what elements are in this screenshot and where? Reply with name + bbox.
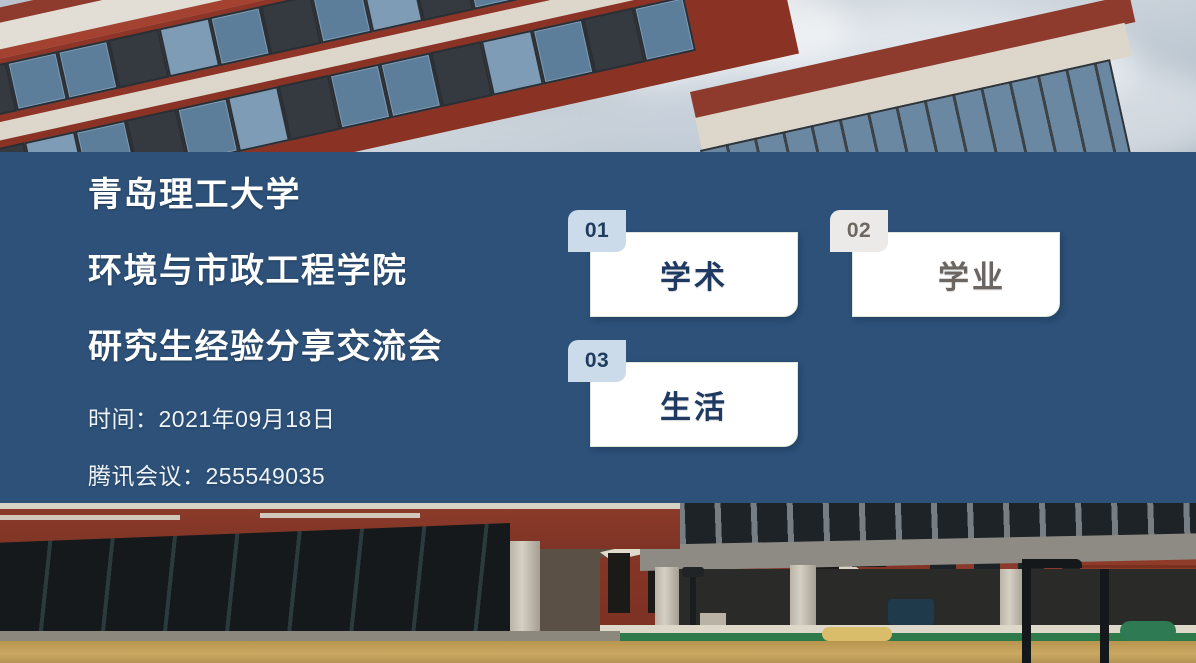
card-label-03: 生活 [660, 382, 728, 427]
card-number-badge-01: 01 [568, 210, 626, 252]
arch-opening [608, 553, 630, 613]
content-panel: 青岛理工大学 环境与市政工程学院 研究生经验分享交流会 时间：2021年09月1… [0, 152, 1196, 504]
card-label-01: 学术 [660, 252, 728, 297]
lintel-segment [0, 515, 180, 520]
rubble-pile [822, 627, 892, 641]
topic-card-group: 01 学术 02 学业 03 生活 [0, 152, 1196, 504]
building-mass-top [0, 0, 799, 153]
sandy-ground [0, 641, 1196, 663]
lamp-post-head [682, 567, 704, 577]
lintel-band [0, 503, 680, 509]
card-number-badge-03: 03 [568, 340, 626, 382]
top-photo-campus-building [0, 0, 1196, 153]
parked-vehicle [888, 599, 934, 625]
green-netting-pile [1120, 621, 1176, 641]
lintel-segment [260, 513, 420, 518]
bottom-photo-campus-entrance [0, 503, 1196, 663]
signage-pole-arm [1022, 559, 1082, 568]
card-number-badge-02: 02 [830, 210, 888, 252]
poster-slide: 青岛理工大学 环境与市政工程学院 研究生经验分享交流会 时间：2021年09月1… [0, 0, 1196, 663]
card-label-02: 学业 [938, 252, 1006, 297]
signage-pole-left [1022, 559, 1031, 663]
signage-pole-right [1100, 569, 1109, 663]
